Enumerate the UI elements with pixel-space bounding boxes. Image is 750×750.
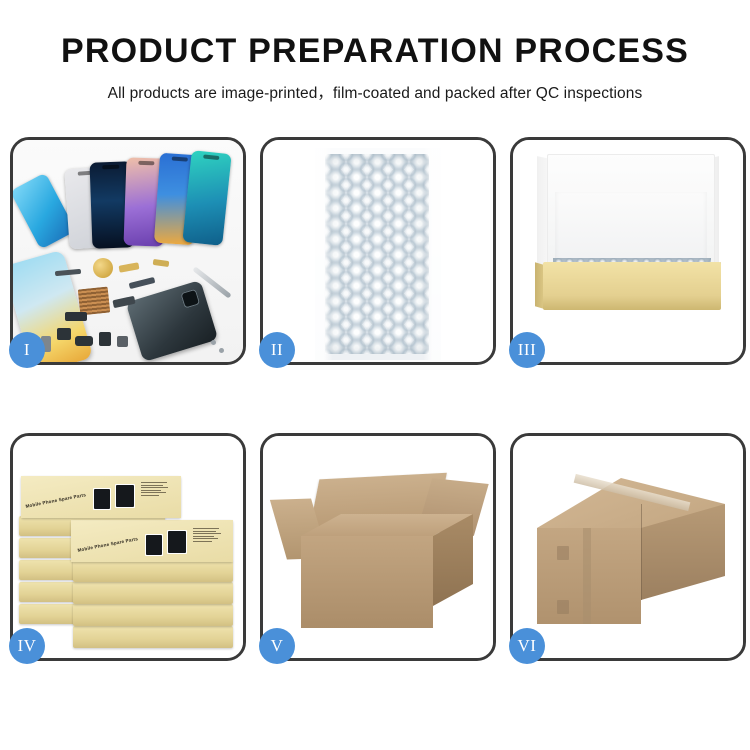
carton-tab xyxy=(557,546,569,560)
box-spec-list xyxy=(141,482,171,498)
speaker-module-icon xyxy=(93,258,113,278)
step-3-image xyxy=(513,140,743,362)
step-badge-5: V xyxy=(259,628,295,664)
screw-icon xyxy=(219,348,224,353)
stacked-box-printed: Mobile Phone Spare Parts xyxy=(71,520,233,562)
page-title: PRODUCT PREPARATION PROCESS xyxy=(0,34,750,70)
inner-box-icon xyxy=(543,262,721,310)
box-label-text: Mobile Phone Spare Parts xyxy=(25,492,86,509)
carton-front xyxy=(301,536,433,628)
product-preparation-infographic: PRODUCT PREPARATION PROCESS All products… xyxy=(0,0,750,750)
stacked-box xyxy=(73,560,233,582)
process-step-1: I xyxy=(10,137,246,365)
step-6-image xyxy=(513,436,743,658)
carton-tab xyxy=(557,600,569,614)
stacked-box xyxy=(73,604,233,626)
step-5-image xyxy=(263,436,493,658)
step-badge-6: VI xyxy=(509,628,545,664)
screw-icon xyxy=(211,340,216,345)
flex-cable-icon xyxy=(129,277,156,289)
step-badge-2: II xyxy=(259,332,295,368)
connector-icon xyxy=(153,259,170,267)
camera-module-icon xyxy=(99,332,111,346)
box-phone-image xyxy=(145,534,163,556)
step-badge-3: III xyxy=(509,332,545,368)
process-step-2: II xyxy=(260,137,496,365)
step-badge-4: IV xyxy=(9,628,45,664)
step-4-image: Mobile Phone Spare Parts Mobile xyxy=(13,436,243,658)
flex-cable-icon xyxy=(65,312,87,321)
box-phone-image xyxy=(93,488,111,510)
box-label-text: Mobile Phone Spare Parts xyxy=(77,536,138,553)
process-step-3: III xyxy=(510,137,746,365)
box-lid-face: Mobile Phone Spare Parts xyxy=(71,520,233,562)
carton-edge-seam xyxy=(641,504,642,600)
wrap-fold-edges xyxy=(315,148,441,360)
process-step-4: Mobile Phone Spare Parts Mobile xyxy=(10,433,246,661)
camera-module-icon xyxy=(57,328,71,340)
phone-screens-group xyxy=(21,150,241,260)
box-phone-image xyxy=(115,484,135,508)
phone-backplate-icon xyxy=(126,280,219,362)
process-step-6: VI xyxy=(510,433,746,661)
box-stack: Mobile Phone Spare Parts Mobile xyxy=(13,436,243,658)
box-phone-image xyxy=(167,530,187,554)
stacked-box xyxy=(73,626,233,648)
page-subtitle: All products are image-printed，film-coat… xyxy=(0,81,750,103)
packing-tape-icon xyxy=(583,528,591,624)
stacked-box xyxy=(73,582,233,604)
step-badge-1: I xyxy=(9,332,45,368)
small-part-icon xyxy=(117,336,128,347)
box-spec-list xyxy=(193,528,223,544)
process-grid: I II III xyxy=(10,137,740,661)
stacked-box-printed: Mobile Phone Spare Parts xyxy=(21,476,181,518)
step-2-image xyxy=(263,140,493,362)
battery-part-icon xyxy=(75,336,93,346)
box-lid-face: Mobile Phone Spare Parts xyxy=(21,476,181,518)
step-1-image xyxy=(13,140,243,362)
connector-icon xyxy=(119,262,140,272)
phone-screen-icon xyxy=(182,150,231,246)
process-step-5: V xyxy=(260,433,496,661)
header: PRODUCT PREPARATION PROCESS All products… xyxy=(0,0,750,103)
foam-insert-icon xyxy=(555,192,707,264)
